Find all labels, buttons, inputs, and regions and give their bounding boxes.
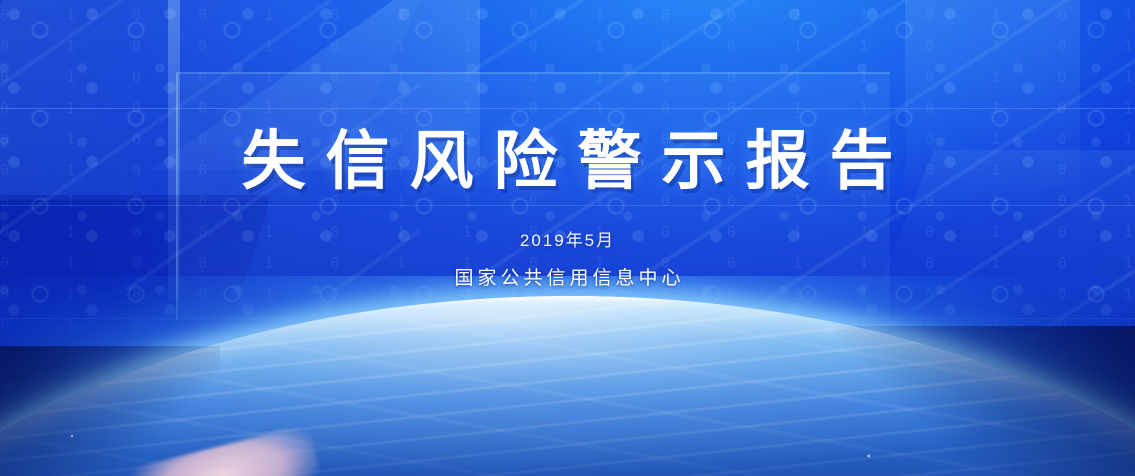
surface-specks (0, 296, 1135, 476)
page-title: 失信风险警示报告 (0, 128, 1135, 196)
earth-horizon-globe (0, 276, 1135, 476)
report-date: 2019年5月 (0, 226, 1135, 251)
report-cover-poster: 0 1 0 0 1 0 1 1 0 1 0 0 1 1 0 1 0 1 0 0 … (0, 0, 1135, 476)
issuing-organization: 国家公共信用信息中心 (0, 263, 1135, 290)
earth-surface (0, 296, 1135, 476)
cover-text-block: 失信风险警示报告 2019年5月 国家公共信用信息中心 (0, 128, 1135, 290)
horizontal-rule-top (0, 108, 1135, 109)
